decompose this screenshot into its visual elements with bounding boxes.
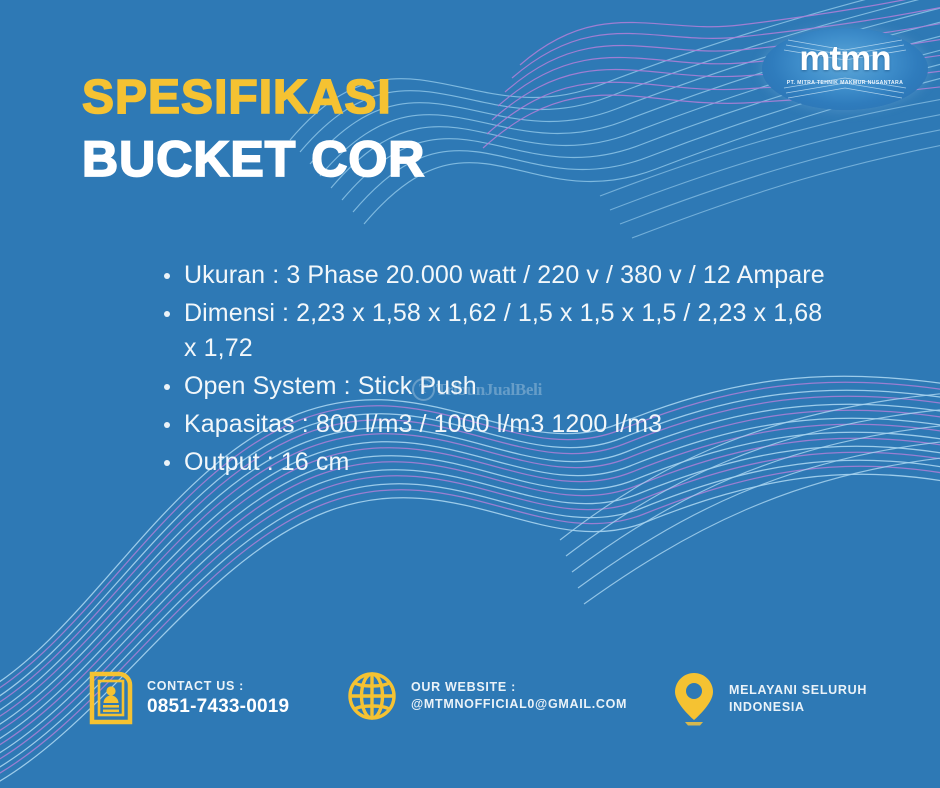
footer-website-text: OUR WEBSITE : @MTMNOFFICIAL0@GMAIL.COM: [411, 679, 627, 713]
area-line1: MELAYANI SELURUH: [729, 682, 867, 699]
company-logo: mtmn PT. MITRA TEHNIK MAKMUR NUSANTARA: [762, 28, 928, 110]
list-item: Ukuran : 3 Phase 20.000 watt / 220 v / 3…: [160, 258, 840, 293]
specification-list: Ukuran : 3 Phase 20.000 watt / 220 v / 3…: [160, 258, 840, 483]
footer-bar: CONTACT US : 0851-7433-0019 OUR WEBSITE …: [0, 658, 940, 748]
tribun-logo-icon: T: [412, 378, 435, 401]
list-item: Kapasitas : 800 l/m3 / 1000 l/m3 1200 l/…: [160, 407, 840, 442]
list-item: Output : 16 cm: [160, 445, 840, 480]
logo-tagline: PT. MITRA TEHNIK MAKMUR NUSANTARA: [762, 80, 928, 86]
contact-label: CONTACT US :: [147, 678, 289, 695]
globe-icon: [346, 670, 398, 722]
page-title-spesifikasi: SPESIFIKASI: [82, 74, 392, 122]
website-email[interactable]: @MTMNOFFICIAL0@GMAIL.COM: [411, 696, 627, 713]
logo-wordmark: mtmn: [762, 41, 928, 76]
contact-card-icon: [88, 670, 134, 726]
website-label: OUR WEBSITE :: [411, 679, 627, 696]
poster-canvas: mtmn PT. MITRA TEHNIK MAKMUR NUSANTARA S…: [0, 0, 940, 788]
watermark-label: TribunJualBeli: [436, 380, 542, 400]
map-pin-icon: [672, 670, 716, 728]
list-item: Dimensi : 2,23 x 1,58 x 1,62 / 1,5 x 1,5…: [160, 296, 840, 366]
area-line2: INDONESIA: [729, 699, 867, 716]
footer-contact-text: CONTACT US : 0851-7433-0019: [147, 678, 289, 719]
footer-website-block[interactable]: OUR WEBSITE : @MTMNOFFICIAL0@GMAIL.COM: [346, 670, 627, 722]
footer-area-text: MELAYANI SELURUH INDONESIA: [729, 682, 867, 716]
watermark: T TribunJualBeli: [412, 378, 542, 401]
contact-phone[interactable]: 0851-7433-0019: [147, 695, 289, 719]
footer-contact-block[interactable]: CONTACT US : 0851-7433-0019: [88, 670, 289, 726]
page-title-bucket-cor: BUCKET COR: [82, 134, 425, 184]
footer-area-block[interactable]: MELAYANI SELURUH INDONESIA: [672, 670, 867, 728]
